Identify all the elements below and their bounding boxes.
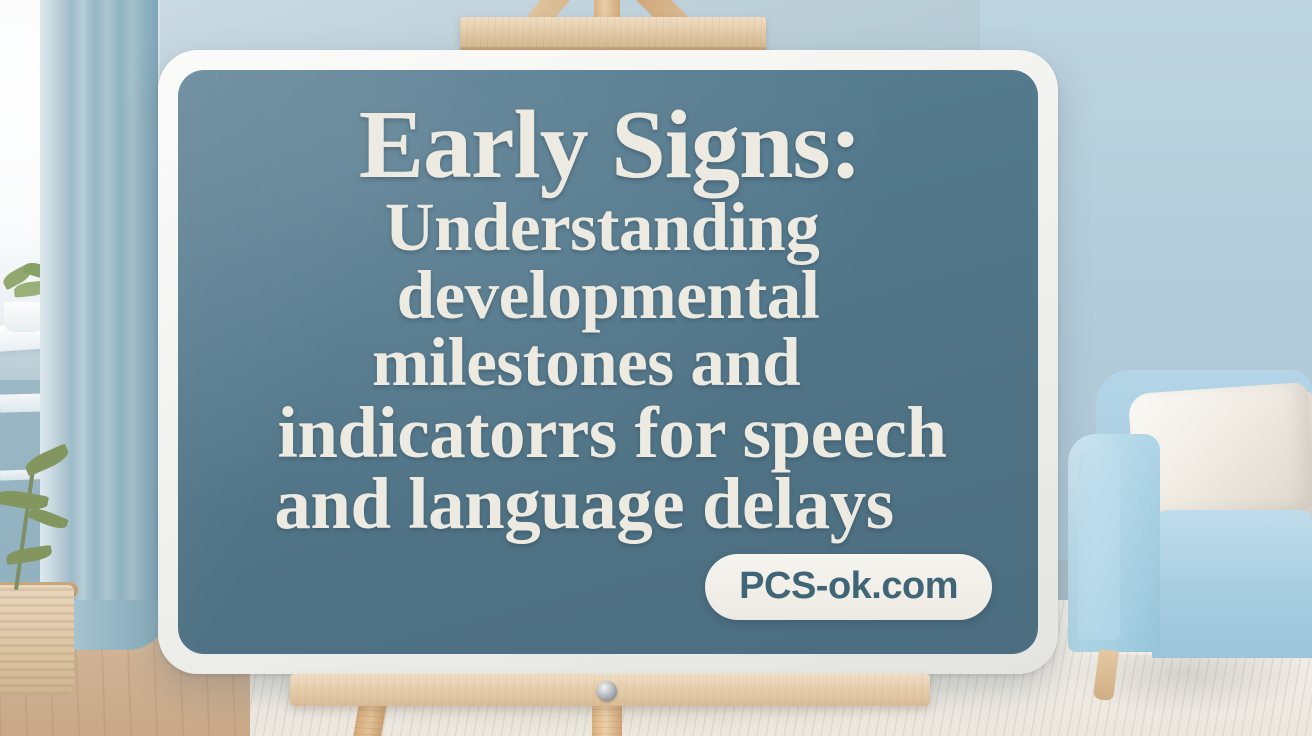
poster-headline: Early Signs: bbox=[222, 98, 998, 192]
poster-subtitle-line-2: developmental bbox=[220, 262, 996, 330]
sofa-armrest-inner bbox=[1078, 444, 1120, 640]
sofa-base bbox=[1152, 578, 1312, 658]
website-badge-label: PCS-ok.com bbox=[739, 567, 958, 605]
poster-subtitle-line-3: milestones and bbox=[198, 329, 974, 397]
poster-subtitle-line-4: indicatorrs for speech bbox=[224, 397, 1000, 469]
room-scene: Early Signs: Understanding developmental… bbox=[0, 0, 1312, 736]
plant-pot bbox=[4, 302, 44, 332]
window-curtain bbox=[40, 0, 158, 630]
easel-adjustment-knob[interactable] bbox=[597, 681, 617, 701]
poster-panel: Early Signs: Understanding developmental… bbox=[178, 70, 1038, 654]
basket-planter bbox=[0, 585, 74, 695]
poster-subtitle-line-5: and language delays bbox=[196, 468, 972, 540]
poster-subtitle-line-1: Understanding bbox=[214, 194, 990, 262]
website-badge[interactable]: PCS-ok.com bbox=[705, 554, 992, 620]
poster-text-block: Early Signs: Understanding developmental… bbox=[222, 98, 998, 540]
sofa-seat-cushion bbox=[1152, 510, 1312, 588]
poster-board[interactable]: Early Signs: Understanding developmental… bbox=[158, 50, 1058, 674]
poster-subtitle: Understanding developmental milestones a… bbox=[222, 194, 998, 540]
